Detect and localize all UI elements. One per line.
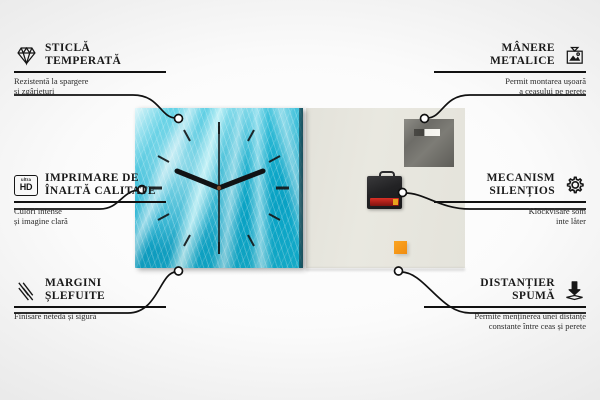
callout-header: MARGINI ȘLEFUITE — [14, 277, 166, 306]
callout-title-line1: MÂNERE — [501, 42, 555, 54]
callout-sticla-temperata: STICLĂ TEMPERATĂ Rezistentă la spargere … — [14, 42, 166, 97]
callout-subtitle: Klockvisare som inte låter — [434, 203, 586, 227]
callout-distantier-spuma: DISTANȚIER SPUMĂ Permite menținerea unei… — [424, 277, 586, 332]
callout-title-line1: IMPRIMARE DE — [45, 172, 139, 184]
callout-title-line2: ÎNALTĂ CALITATE — [45, 185, 156, 197]
callout-title-line1: STICLĂ — [45, 42, 90, 54]
callout-subtitle: Permit montarea ușoară a ceasului pe per… — [434, 73, 586, 97]
callout-title: IMPRIMARE DE ÎNALTĂ CALITATE — [45, 172, 156, 198]
callout-mecanism-silentios: MECANISM SILENȚIOS Klockvisare som inte … — [434, 172, 586, 227]
callout-margini-slefuite: MARGINI ȘLEFUITE Finisare netedă și sigu… — [14, 277, 166, 321]
callout-title: MECANISM SILENȚIOS — [487, 172, 555, 198]
callout-header: DISTANȚIER SPUMĂ — [424, 277, 586, 306]
foam-spacer-arrow-icon — [562, 278, 586, 302]
callout-subtitle: Culori intense și imagine clară — [14, 203, 166, 227]
callout-title-line1: MARGINI — [45, 277, 101, 289]
callout-sub-line2: a ceasului pe perete — [519, 86, 586, 96]
callout-sub-line2: și imagine clară — [14, 216, 68, 226]
callout-sub-line1: Rezistentă la spargere — [14, 76, 88, 86]
foam-spacer-pad — [394, 241, 407, 254]
callout-title-line2: METALICE — [490, 55, 555, 67]
callout-title-line1: MECANISM — [487, 172, 555, 184]
callout-title-line2: SILENȚIOS — [489, 185, 555, 197]
callout-sub-line1: Permit montarea ușoară — [505, 76, 586, 86]
callout-sub-line1: Klockvisare som — [529, 206, 586, 216]
callout-title-line2: TEMPERATĂ — [45, 55, 121, 67]
callout-subtitle: Rezistentă la spargere și zgârieturi — [14, 73, 166, 97]
hd-main-label: HD — [20, 183, 33, 192]
hd-badge: ultra HD — [14, 175, 38, 196]
callout-sub-line1: Culori intense — [14, 206, 62, 216]
callout-subtitle: Finisare netedă și sigură — [14, 308, 166, 322]
polished-edges-icon — [14, 278, 38, 302]
callout-title: MÂNERE METALICE — [490, 42, 555, 68]
battery — [370, 198, 399, 206]
clock-glass-edge — [299, 108, 303, 268]
callout-header: MECANISM SILENȚIOS — [434, 172, 586, 201]
callout-title-line1: DISTANȚIER — [480, 277, 555, 289]
callout-sub-line1: Permite menținerea unei distanțe — [474, 311, 586, 321]
callout-title: STICLĂ TEMPERATĂ — [45, 42, 121, 68]
diamond-icon — [14, 43, 38, 67]
clock-mechanism — [367, 171, 402, 209]
callout-header: STICLĂ TEMPERATĂ — [14, 42, 166, 71]
callout-header: MÂNERE METALICE — [434, 42, 586, 71]
callout-sub-line1: Finisare netedă și sigură — [14, 311, 96, 321]
metal-hanger-plate — [404, 119, 454, 167]
callout-imprimare-hd: ultra HD IMPRIMARE DE ÎNALTĂ CALITATE Cu… — [14, 172, 166, 227]
callout-subtitle: Permite menținerea unei distanțe constan… — [424, 308, 586, 332]
callout-title-line2: SPUMĂ — [512, 290, 555, 302]
callout-title-line2: ȘLEFUITE — [45, 290, 105, 302]
callout-title: DISTANȚIER SPUMĂ — [480, 277, 555, 303]
callout-sub-line2: inte låter — [556, 216, 586, 226]
product-photo — [135, 108, 465, 268]
ultra-hd-icon: ultra HD — [14, 173, 38, 197]
hanger-slot — [414, 129, 440, 136]
callout-header: ultra HD IMPRIMARE DE ÎNALTĂ CALITATE — [14, 172, 166, 201]
callout-manere-metalice: MÂNERE METALICE Permit montarea ușoară a… — [434, 42, 586, 97]
callout-sub-line2: constante între ceas și perete — [489, 321, 586, 331]
mechanism-housing — [367, 176, 402, 209]
infographic-stage: STICLĂ TEMPERATĂ Rezistentă la spargere … — [0, 0, 600, 400]
callout-sub-line2: și zgârieturi — [14, 86, 54, 96]
callout-title: MARGINI ȘLEFUITE — [45, 277, 105, 303]
picture-hanger-icon — [562, 43, 586, 67]
gear-icon — [562, 173, 586, 197]
